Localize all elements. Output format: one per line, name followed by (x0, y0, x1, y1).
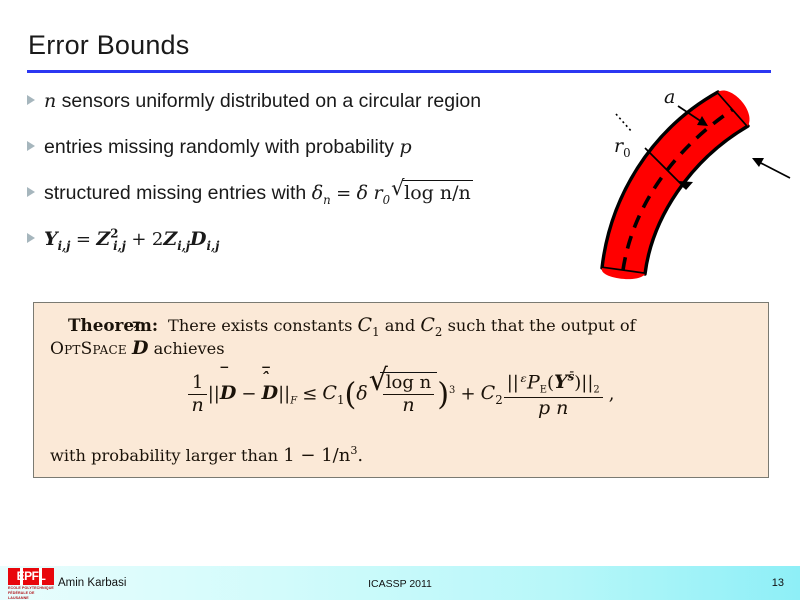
dotted-guide (616, 114, 632, 132)
math-D: Di,j (190, 228, 219, 250)
list-item-text: sensors uniformly distributed on a circu… (62, 90, 481, 112)
math-equals: = (336, 183, 351, 204)
list-item-label: n sensors uniformly distributed on a cir… (44, 86, 626, 115)
list-item-label: structured missing entries with δn = δ r… (44, 178, 626, 209)
math-equals: = (76, 229, 91, 250)
math-p: p (399, 136, 411, 158)
math-leq: ≤ (302, 383, 317, 404)
math-C1: C1 (358, 314, 380, 336)
math-C2: C2 (420, 314, 442, 336)
math-Y: Yi,j (44, 228, 70, 250)
math-norm-open: || (208, 383, 220, 404)
list-item: Yi,j = Z2i,j + 2Zi,jDi,j (26, 224, 626, 266)
theorem-achieves: achieves (154, 339, 225, 358)
list-item-text: structured missing entries with (44, 182, 306, 204)
theorem-text-tail: such that the output of (448, 316, 636, 335)
paren-close: ) (437, 377, 449, 412)
math-delta-eq: δ (356, 382, 367, 404)
math-delta-n: δn (312, 182, 331, 204)
math-Z-squared: Z2i,j (96, 228, 126, 250)
footer-conference: ICASSP 2011 (0, 578, 800, 590)
math-norm-close: || (278, 383, 290, 404)
theorem-statement-line2: OptSpace ̂̅D achieves (50, 337, 225, 359)
math-power-3: 3 (449, 385, 455, 396)
list-item: n sensors uniformly distributed on a cir… (26, 86, 626, 128)
radical-icon: √ (369, 366, 388, 396)
triangle-bullet-icon (26, 224, 44, 244)
red-annulus-band-diagram: a r0 (590, 78, 800, 283)
math-two: 2 (152, 229, 163, 250)
theorem-tail-text: with probability larger than (50, 446, 278, 465)
math-norm-F: F (290, 396, 297, 407)
figure-label-r0: r0 (614, 135, 631, 160)
math-plus-eq: + (460, 383, 475, 404)
band-shape (602, 92, 748, 274)
math-tail: 1 − 1/n3. (283, 445, 363, 466)
theorem-main-equation: 1 n ||̅D − ̂̅D||F ≤ C1(δ√log nn)3 + C2||… (34, 371, 768, 419)
math-plus: + (131, 229, 146, 250)
triangle-bullet-icon (26, 86, 44, 106)
list-item: structured missing entries with δn = δ r… (26, 178, 626, 220)
math-delta: δ (357, 182, 368, 204)
footer-page-number: 13 (772, 577, 784, 589)
math-D-hat-bar-eq: ̂̅D (262, 382, 278, 404)
radical-icon: √ (391, 178, 404, 199)
epfl-logo-subtitle-2: FÉDÉRALE DE LAUSANNE (8, 591, 54, 600)
theorem-text: There exists constants (168, 316, 352, 335)
list-item-text: entries missing randomly with probabilit… (44, 136, 394, 158)
figure-label-a: a (664, 86, 675, 108)
math-D-bar: ̅D (220, 382, 236, 404)
math-Z: Zi,j (163, 228, 190, 250)
math-projection-fraction: ||ᵋPE(Ys̄)||2p n (504, 371, 603, 419)
list-item: entries missing randomly with probabilit… (26, 132, 626, 174)
math-minus: − (241, 383, 256, 404)
title-underline-rule (27, 70, 771, 73)
triangle-bullet-icon (26, 132, 44, 152)
math-C1-eq: C1 (322, 382, 344, 404)
algorithm-name: OptSpace (50, 339, 127, 359)
edge-arrowhead (752, 158, 764, 167)
math-sqrt-logn-n: √log nn (369, 372, 437, 416)
equation-Yij: Yi,j = Z2i,j + 2Zi,jDi,j (44, 224, 626, 255)
bullet-list: n sensors uniformly distributed on a cir… (26, 86, 626, 270)
math-one-over-n: 1 n (188, 374, 206, 416)
math-radicand: log n/n (402, 180, 473, 207)
math-Y-s: Ys̄ (554, 371, 574, 393)
math-sqrt: √log n/n (391, 180, 473, 207)
theorem-box: Theorem:There exists constants C1 and C2… (33, 302, 769, 478)
paren-open: ( (344, 377, 356, 412)
triangle-bullet-icon (26, 178, 44, 198)
math-D-hat-bar: ̂̅D (132, 337, 148, 359)
math-n: n (44, 90, 56, 112)
theorem-probability-line: with probability larger than 1 − 1/n3. (50, 444, 363, 466)
page-title: Error Bounds (28, 30, 189, 61)
math-comma: , (609, 383, 615, 404)
math-r0: r0 (374, 182, 391, 204)
list-item-label: entries missing randomly with probabilit… (44, 132, 626, 161)
math-C2-eq: C2 (481, 382, 503, 404)
math-P-operator: ᵋP (519, 371, 540, 393)
theorem-conj: and (385, 316, 415, 335)
